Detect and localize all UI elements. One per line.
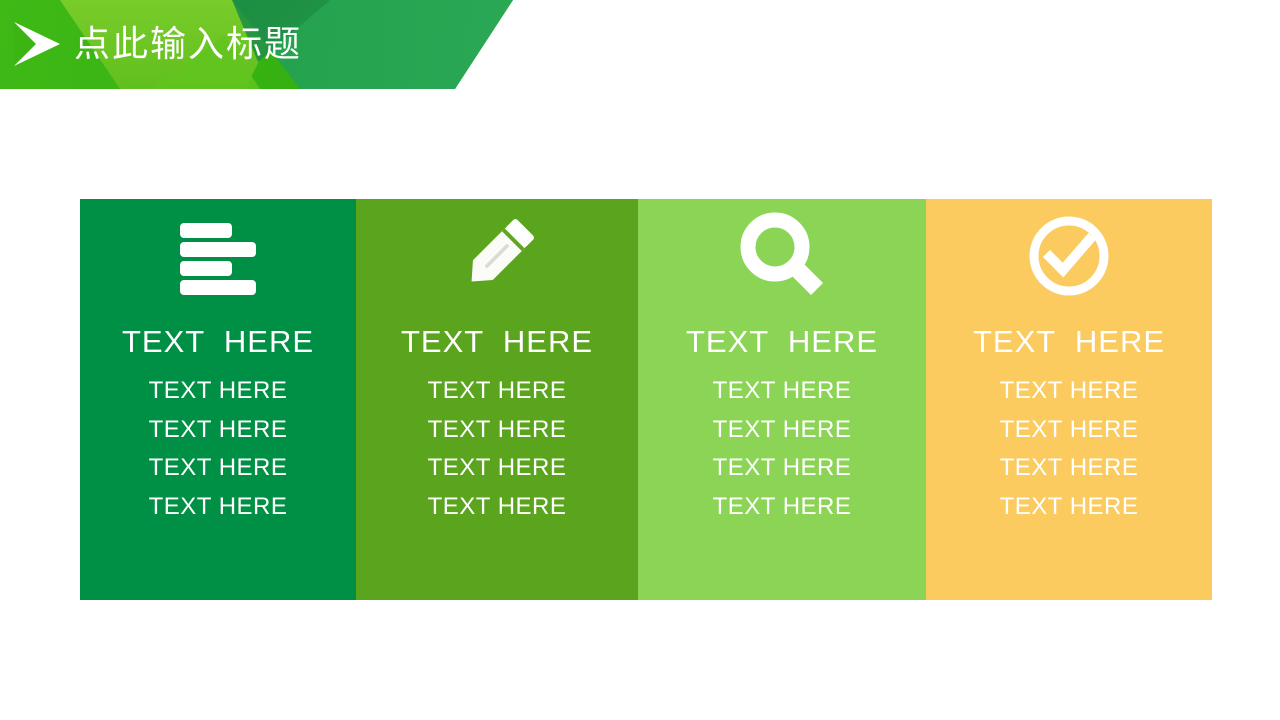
search-icon [734, 210, 830, 302]
panel-line: TEXT HERE [1000, 449, 1139, 488]
panel-line: TEXT HERE [428, 411, 567, 450]
panel-line: TEXT HERE [1000, 372, 1139, 411]
panel-card-4[interactable]: TEXT HERE TEXT HERE TEXT HERE TEXT HERE … [926, 199, 1212, 600]
panel-title-3: TEXT HERE [686, 324, 878, 360]
panel-line: TEXT HERE [1000, 488, 1139, 527]
play-triangle-logo-icon [8, 16, 64, 72]
check-circle-icon [1023, 210, 1115, 302]
panel-line: TEXT HERE [428, 488, 567, 527]
panel-line: TEXT HERE [1000, 411, 1139, 450]
panel-lines-1: TEXT HERE TEXT HERE TEXT HERE TEXT HERE [149, 372, 288, 526]
panel-line: TEXT HERE [713, 449, 852, 488]
panel-title-2: TEXT HERE [401, 324, 593, 360]
list-lines-icon [172, 210, 264, 302]
panel-line: TEXT HERE [428, 372, 567, 411]
panel-line: TEXT HERE [149, 488, 288, 527]
header-banner: 点此输入标题 [0, 0, 520, 89]
panel-card-1[interactable]: TEXT HERE TEXT HERE TEXT HERE TEXT HERE … [80, 199, 356, 600]
panel-line: TEXT HERE [149, 411, 288, 450]
panel-card-3[interactable]: TEXT HERE TEXT HERE TEXT HERE TEXT HERE … [638, 199, 926, 600]
panel-title-4: TEXT HERE [973, 324, 1165, 360]
panel-line: TEXT HERE [713, 372, 852, 411]
panel-lines-3: TEXT HERE TEXT HERE TEXT HERE TEXT HERE [713, 372, 852, 526]
panel-line: TEXT HERE [149, 372, 288, 411]
pencil-icon [451, 210, 543, 302]
panel-card-2[interactable]: TEXT HERE TEXT HERE TEXT HERE TEXT HERE … [356, 199, 638, 600]
panel-line: TEXT HERE [149, 449, 288, 488]
panel-line: TEXT HERE [713, 411, 852, 450]
panel-line: TEXT HERE [713, 488, 852, 527]
page-title: 点此输入标题 [74, 15, 302, 73]
panel-strip: TEXT HERE TEXT HERE TEXT HERE TEXT HERE … [80, 199, 1212, 600]
panel-lines-2: TEXT HERE TEXT HERE TEXT HERE TEXT HERE [428, 372, 567, 526]
panel-line: TEXT HERE [428, 449, 567, 488]
panel-lines-4: TEXT HERE TEXT HERE TEXT HERE TEXT HERE [1000, 372, 1139, 526]
panel-title-1: TEXT HERE [122, 324, 314, 360]
